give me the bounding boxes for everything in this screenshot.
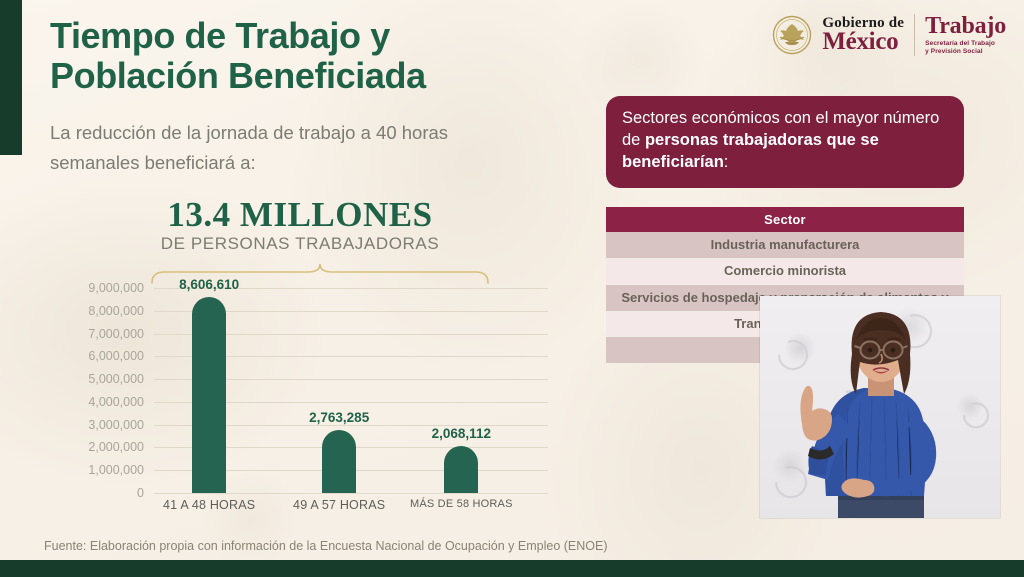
interpreter-figure bbox=[760, 296, 1000, 518]
source-note: Fuente: Elaboración propia con informaci… bbox=[44, 539, 608, 553]
page-title-line1: Tiempo de Trabajo y bbox=[50, 16, 570, 56]
chart-x-tick-label: MÁS DE 58 HORAS bbox=[410, 498, 513, 510]
chart-plot-area: 8,606,6102,763,2852,068,112 bbox=[154, 288, 548, 493]
page-subtitle: La reducción de la jornada de trabajo a … bbox=[50, 118, 570, 177]
chart-y-tick-label: 7,000,000 bbox=[34, 327, 144, 341]
chart-y-tick-label: 0 bbox=[34, 486, 144, 500]
mexican-eagle-emblem-icon bbox=[772, 15, 812, 55]
logo-trabajo-sub-line2: y Previsión Social bbox=[925, 48, 982, 55]
logo-trabajo-title: Trabajo bbox=[925, 14, 1006, 38]
chart-bar-value-label: 2,068,112 bbox=[432, 426, 491, 441]
chart-y-tick-label: 2,000,000 bbox=[34, 440, 144, 454]
chart-y-axis: 01,000,0002,000,0003,000,0004,000,0005,0… bbox=[42, 288, 152, 493]
logo-trabajo-text: Trabajo Secretaría del Trabajo y Previsi… bbox=[925, 14, 1006, 56]
slide-root: Gobierno de México Trabajo Secretaría de… bbox=[0, 0, 1024, 577]
chart-y-tick-label: 4,000,000 bbox=[34, 395, 144, 409]
logo-trabajo-subtitle: Secretaría del Trabajo y Previsión Socia… bbox=[925, 40, 1006, 56]
chart-y-tick-label: 8,000,000 bbox=[34, 304, 144, 318]
logo-trabajo-sub-line1: Secretaría del Trabajo bbox=[925, 40, 995, 47]
page-subtitle-line2: semanales beneficiará a: bbox=[50, 148, 570, 178]
stat-headline-number: 13.4 MILLONES bbox=[0, 195, 600, 235]
chart-y-tick-label: 5,000,000 bbox=[34, 372, 144, 386]
chart-bar bbox=[322, 430, 356, 493]
chart-y-tick-label: 6,000,000 bbox=[34, 349, 144, 363]
callout-box: Sectores económicos con el mayor número … bbox=[606, 96, 964, 188]
table-row: Comercio minorista bbox=[606, 258, 964, 284]
logo-gobierno-text: Gobierno de México bbox=[822, 16, 904, 54]
page-title: Tiempo de Trabajo y Población Beneficiad… bbox=[50, 16, 570, 97]
chart-x-tick-label: 49 A 57 HORAS bbox=[293, 498, 385, 512]
logo-gobierno-line2: México bbox=[822, 29, 904, 54]
callout-text-bold: personas trabajadoras que se beneficiarí… bbox=[622, 131, 879, 171]
chart-gridline bbox=[154, 493, 548, 494]
chart-x-tick-label: 41 A 48 HORAS bbox=[163, 498, 255, 512]
page-title-line2: Población Beneficiada bbox=[50, 56, 570, 96]
chart-bar-value-label: 2,763,285 bbox=[309, 410, 369, 425]
chart-bar bbox=[444, 446, 478, 493]
logo-divider bbox=[914, 14, 915, 56]
sectors-table-header: Sector bbox=[606, 207, 964, 232]
chart-y-tick-label: 9,000,000 bbox=[34, 281, 144, 295]
decorative-bottom-bar bbox=[0, 560, 1024, 577]
page-subtitle-line1: La reducción de la jornada de trabajo a … bbox=[50, 118, 570, 148]
bar-chart: 01,000,0002,000,0003,000,0004,000,0005,0… bbox=[42, 262, 562, 530]
decorative-corner-block bbox=[0, 0, 22, 155]
government-logo: Gobierno de México Trabajo Secretaría de… bbox=[772, 14, 1006, 56]
chart-bar bbox=[192, 297, 226, 493]
chart-y-tick-label: 1,000,000 bbox=[34, 463, 144, 477]
chart-bar-value-label: 8,606,610 bbox=[179, 277, 239, 292]
chart-y-tick-label: 3,000,000 bbox=[34, 418, 144, 432]
stat-headline-caption: DE PERSONAS TRABAJADORAS bbox=[0, 234, 600, 254]
table-row: Industria manufacturera bbox=[606, 232, 964, 258]
callout-text-part2: : bbox=[724, 153, 729, 171]
sign-language-interpreter-video[interactable] bbox=[760, 296, 1000, 518]
